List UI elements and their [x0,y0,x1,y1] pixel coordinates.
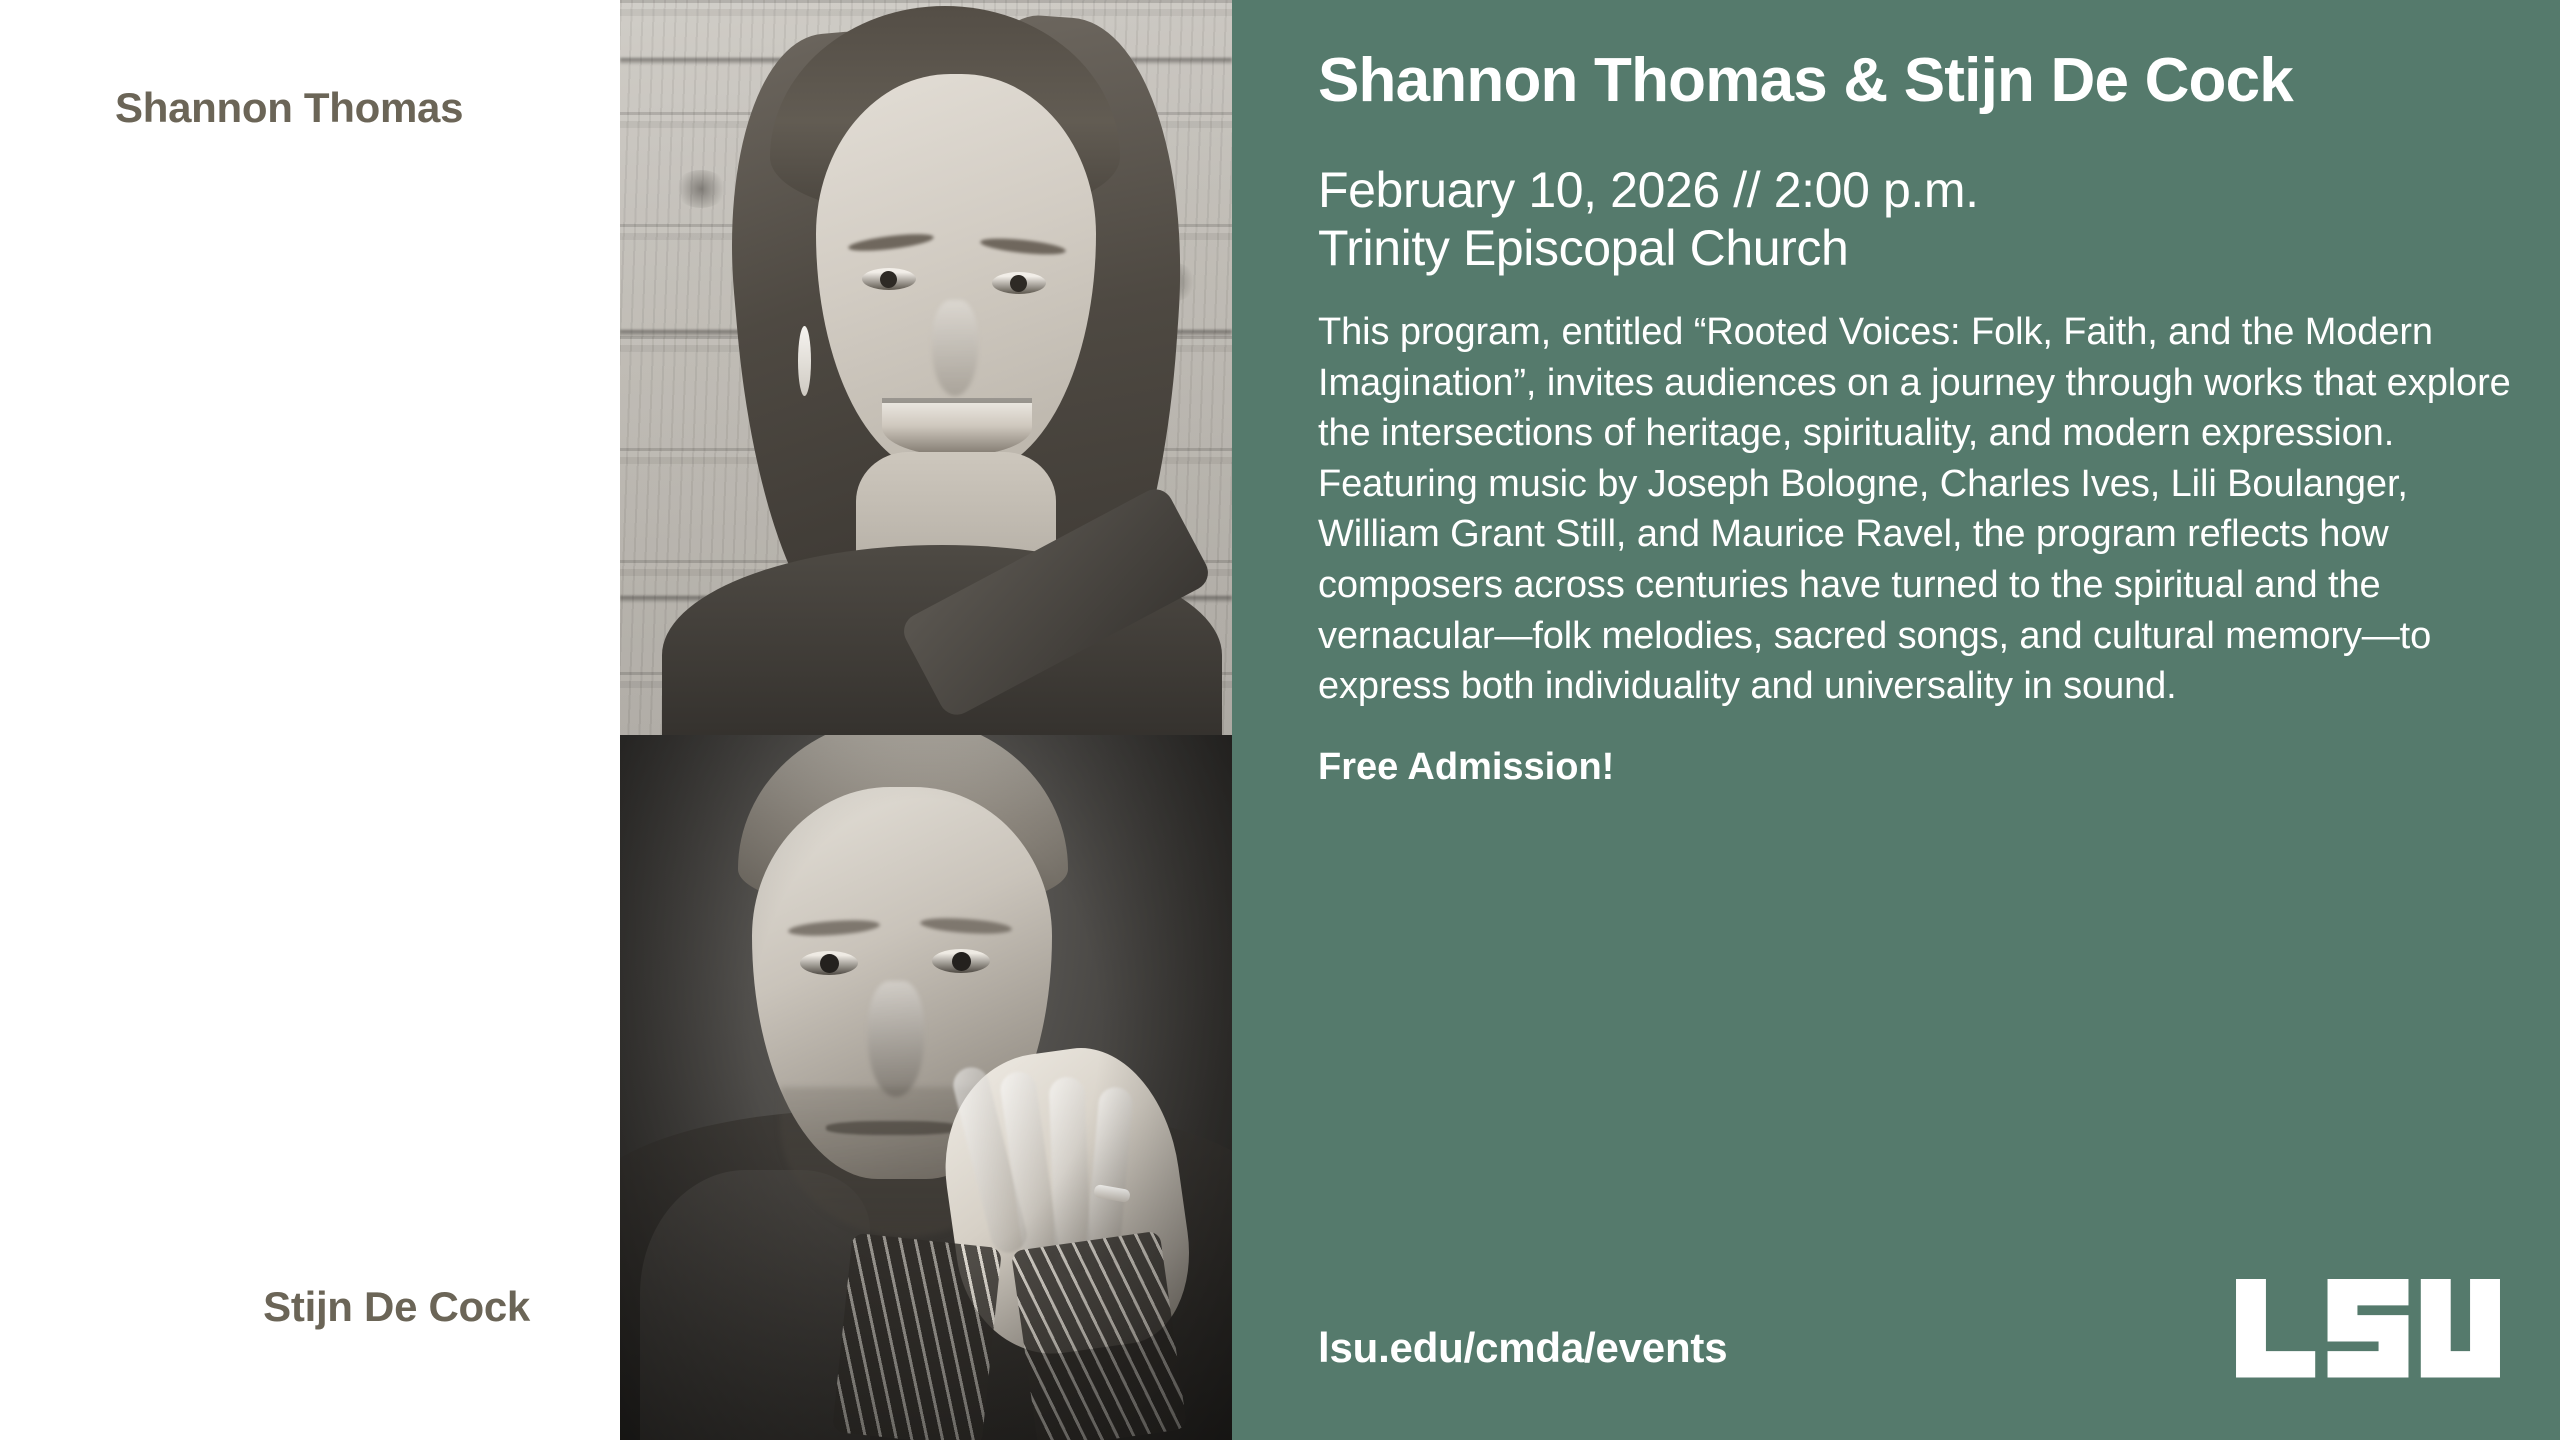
wood-knot [674,170,728,208]
event-date-time: February 10, 2026 // 2:00 p.m. [1318,161,2368,219]
admission-note: Free Admission! [1318,746,2534,789]
eye [992,272,1046,294]
portrait-photo-shannon-thomas [620,0,1232,735]
event-venue: Trinity Episcopal Church [1318,219,2368,277]
event-poster: Shannon Thomas Stijn De Cock [0,0,2560,1440]
event-title: Shannon Thomas & Stijn De Cock [1318,48,2328,114]
nose [932,300,978,396]
eye [862,268,916,290]
photo-column [620,0,1232,1440]
caption-column: Shannon Thomas Stijn De Cock [0,0,620,1440]
performer-caption-top: Shannon Thomas [115,84,463,132]
vignette [620,735,1232,1440]
event-when-block: February 10, 2026 // 2:00 p.m. Trinity E… [1318,161,2368,277]
event-description: This program, entitled “Rooted Voices: F… [1318,307,2523,711]
event-url-link[interactable]: lsu.edu/cmda/events [1318,1324,1727,1372]
earring [798,326,811,396]
lsu-logo [2236,1279,2500,1378]
panel-footer: lsu.edu/cmda/events [1318,1279,2534,1378]
event-details-panel: Shannon Thomas & Stijn De Cock February … [1232,0,2560,1440]
smiling-mouth [882,398,1032,456]
performer-caption-bottom: Stijn De Cock [263,1283,530,1331]
portrait-photo-stijn-de-cock [620,735,1232,1440]
